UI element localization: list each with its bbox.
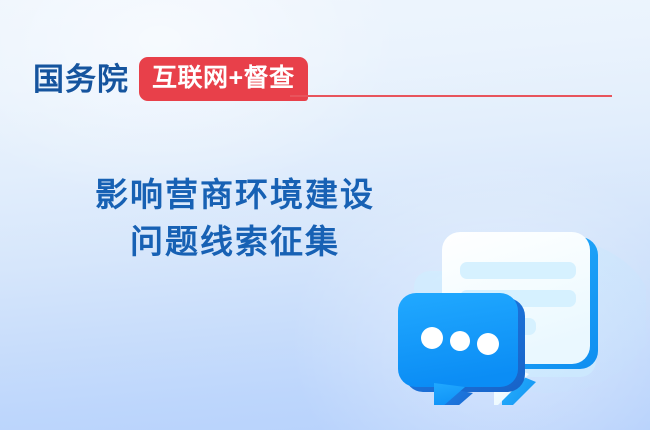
typing-dot (450, 331, 470, 351)
internet-supervision-badge: 互联网+督查 (139, 57, 308, 101)
promo-banner: 国务院 互联网+督查 影响营商环境建设 问题线索征集 (0, 0, 650, 430)
front-speech-bubble (398, 293, 525, 405)
gov-council-label: 国务院 (33, 64, 129, 95)
header-divider-rule (290, 95, 612, 97)
typing-dot (477, 333, 499, 355)
chat-bubbles-illustration (398, 205, 646, 405)
banner-header: 国务院 互联网+督查 (33, 57, 308, 101)
bubble-text-line (460, 262, 576, 279)
typing-dot (421, 327, 443, 349)
